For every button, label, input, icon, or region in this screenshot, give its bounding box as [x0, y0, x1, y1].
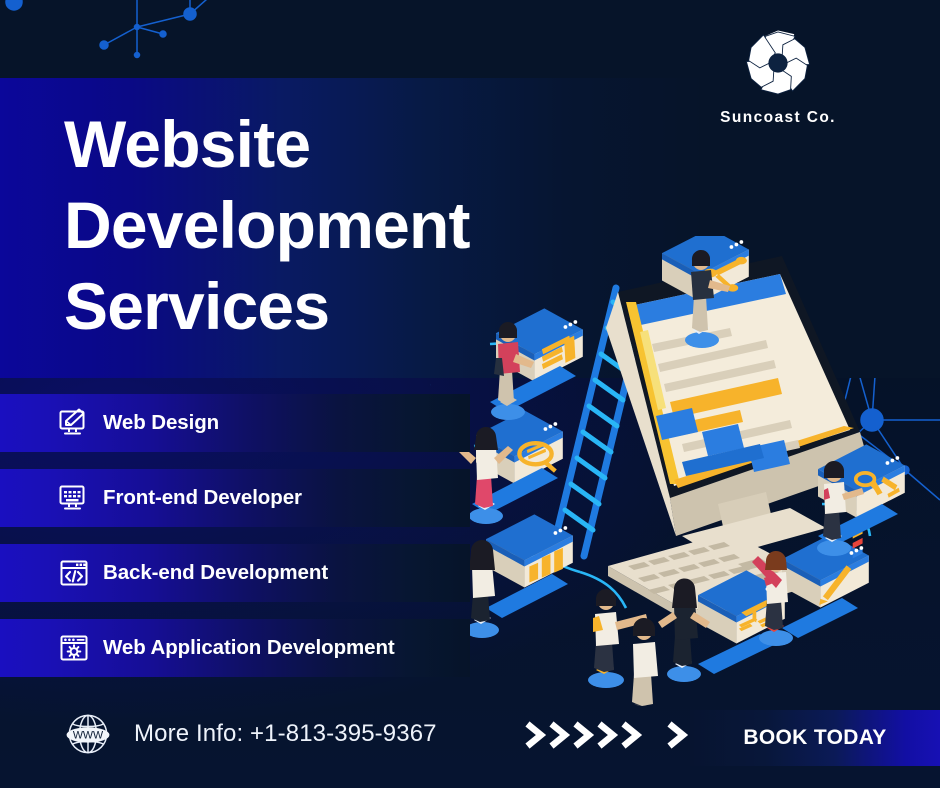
chevron-right-icon — [524, 718, 654, 752]
contact-phone-text: More Info: +1-813-395-9367 — [134, 720, 437, 748]
brand-logo: Suncoast Co. — [700, 26, 856, 127]
service-label: Web Application Development — [103, 636, 395, 660]
headline-line-3: Services — [64, 266, 624, 347]
book-today-button[interactable]: BOOK TODAY — [690, 710, 940, 766]
service-label: Front-end Developer — [103, 486, 302, 510]
contact-info[interactable]: WWW More Info: +1-813-395-9367 — [60, 706, 437, 762]
browser-gear-icon — [58, 632, 90, 664]
camera-aperture-icon — [741, 26, 815, 100]
book-today-label: BOOK TODAY — [743, 726, 886, 750]
headline-line-2: Development — [64, 185, 624, 266]
monitor-keyboard-icon — [58, 482, 90, 514]
browser-code-icon — [58, 557, 90, 589]
globe-www-icon: WWW — [60, 706, 116, 762]
banner-canvas: Suncoast Co. Website Development Service… — [0, 0, 940, 788]
service-item-back-end-development[interactable]: Back-end Development — [0, 544, 470, 602]
service-item-web-application-development[interactable]: Web Application Development — [0, 619, 470, 677]
service-item-front-end-developer[interactable]: Front-end Developer — [0, 469, 470, 527]
monitor-paintbrush-icon — [58, 407, 90, 439]
headline-line-1: Website — [64, 104, 624, 185]
services-list: Web Design Front-end Developer — [0, 394, 470, 694]
page-title: Website Development Services — [64, 104, 624, 347]
globe-www-label: WWW — [73, 730, 104, 742]
brand-name: Suncoast Co. — [700, 109, 856, 127]
service-item-web-design[interactable]: Web Design — [0, 394, 470, 452]
service-label: Web Design — [103, 411, 219, 435]
service-label: Back-end Development — [103, 561, 328, 585]
